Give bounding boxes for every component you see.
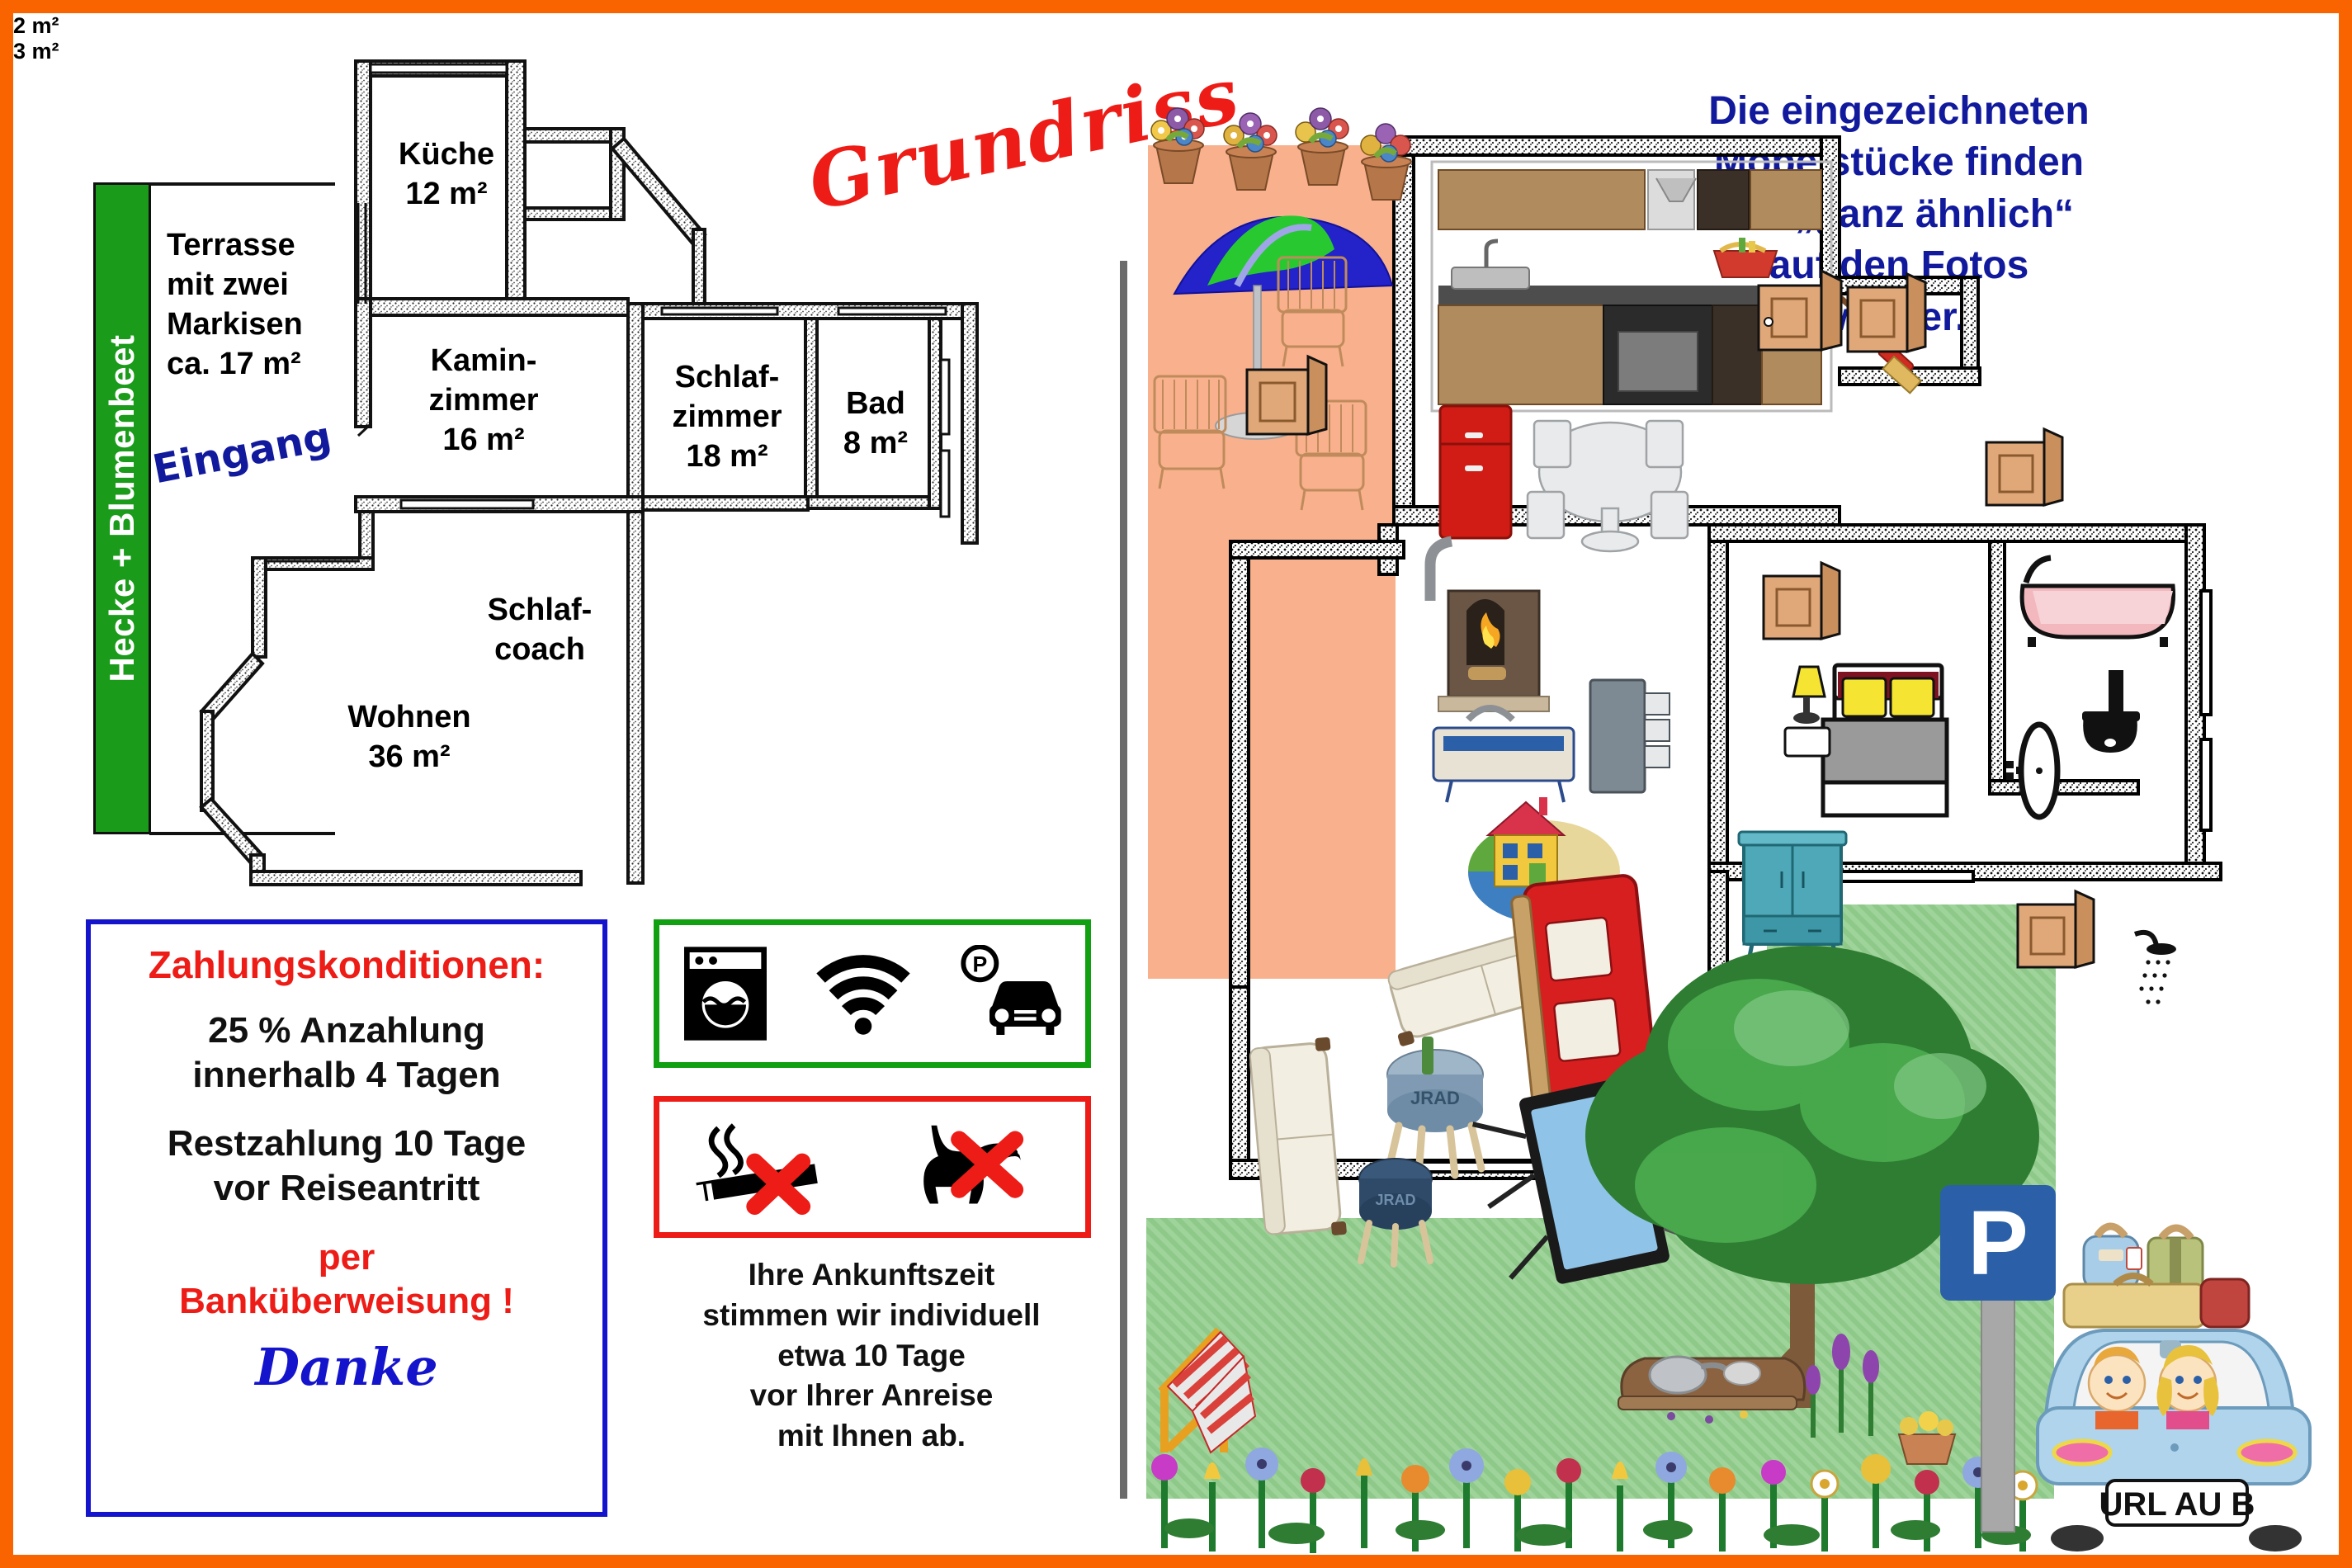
payment-conditions-box: Zahlungskonditionen: 25 % Anzahlung inne… (86, 919, 607, 1517)
thanks-label: Danke (255, 1337, 437, 1397)
side-table-icon: JRAD (1387, 1037, 1483, 1175)
arrival-line-4: vor Ihrer Anreise (624, 1376, 1119, 1416)
room-area-schlafzimmer: 18 m² (645, 437, 810, 477)
payment-line-3: Restzahlung 10 Tage (168, 1122, 526, 1166)
arrival-note: Ihre Ankunftszeit stimmen wir individuel… (624, 1255, 1119, 1457)
arrival-line-5: mit Ihnen ab. (624, 1416, 1119, 1457)
room-label-schlafcoach: Schlaf- coach (465, 591, 614, 670)
room-name-bad: Bad (818, 385, 933, 424)
room-name-kaminzimmer-2: zimmer (389, 381, 579, 421)
amenities-forbidden-box (654, 1096, 1091, 1238)
door-icon-1 (1759, 271, 1841, 350)
room-name-schlafzimmer-2: zimmer (645, 398, 810, 437)
shower-icon (2135, 933, 2176, 1004)
room-name-schlafzimmer-1: Schlaf- (645, 358, 810, 398)
toy-house-icon (1488, 797, 1564, 886)
floorplan-panel: Hecke + Blumenbeet Terrasse mit zwei Mar… (13, 13, 1111, 1555)
bench-icon (1433, 728, 1574, 802)
fireplace-stove (1430, 541, 1549, 748)
room-label-wohnen: Wohnen 36 m² (319, 698, 500, 777)
parking-sign-icon: P (1940, 1185, 2056, 1532)
stool-label: JRAD (1375, 1192, 1415, 1208)
tree-icon (1585, 946, 2039, 1408)
no-dogs-icon (900, 1120, 1057, 1215)
sideboard-icon (1590, 680, 1670, 792)
payment-line-2: innerhalb 4 Tagen (192, 1053, 500, 1098)
room-label-bad: Bad 8 m² (818, 385, 933, 464)
room-label-schlafzimmer: Schlaf- zimmer 18 m² (645, 358, 810, 477)
room-name-schlafcoach-1: Schlaf- (465, 591, 614, 631)
room-name-kueche: Küche (376, 135, 517, 175)
payment-line-4: vor Reiseantritt (214, 1166, 480, 1211)
room-area-kueche: 12 m² (376, 175, 517, 215)
license-plate: URL AU B (2099, 1486, 2255, 1523)
mirror-icon (2006, 725, 2057, 817)
parking-sign-letter: P (1967, 1193, 2028, 1294)
flower-pots (1151, 108, 1411, 200)
payment-title: Zahlungskonditionen: (149, 942, 545, 987)
room-area-bad: 8 m² (818, 424, 933, 464)
svg-text:P: P (972, 952, 987, 976)
red-fridge (1440, 406, 1511, 538)
stool-icon: JRAD (1359, 1159, 1432, 1264)
flower-border (1151, 1448, 2037, 1553)
room-area-kaminzimmer: 16 m² (389, 421, 579, 460)
dining-table (1528, 421, 1688, 551)
arrival-line-3: etwa 10 Tage (624, 1336, 1119, 1377)
no-smoking-icon (687, 1120, 844, 1215)
wifi-icon (814, 952, 913, 1035)
nightstand-lamp-icon (1785, 667, 1830, 756)
payment-line-1: 25 % Anzahlung (208, 1008, 485, 1053)
room-label-kueche: Küche 12 m² (376, 135, 517, 215)
arrival-line-2: stimmen wir individuell (624, 1296, 1119, 1336)
parking-car-icon: P (956, 945, 1064, 1042)
illustration-drawing: JRAD JRAD (1131, 13, 2339, 1555)
bed-icon (1823, 665, 1947, 815)
wardrobe-icon (1739, 832, 1846, 961)
door-icon-4 (1986, 429, 2062, 505)
room-name-schlafcoach-2: coach (465, 631, 614, 670)
bathtub-icon (2022, 558, 2173, 647)
toilet-icon (2082, 670, 2140, 753)
room-label-kaminzimmer: Kamin- zimmer 16 m² (389, 342, 579, 460)
panel-divider (1120, 261, 1127, 1499)
page-border: Hecke + Blumenbeet Terrasse mit zwei Mar… (0, 0, 2352, 1568)
illustration-panel: Die eingezeichneten Möbelstücke finden S… (1131, 13, 2339, 1555)
payment-line-5: per (319, 1235, 375, 1280)
door-icon-6 (1764, 563, 1840, 639)
deckchair-icon (1161, 1330, 1255, 1452)
room-name-wohnen: Wohnen (319, 698, 500, 738)
flower-bed-icon (1806, 1334, 1955, 1464)
family-car-icon: URL AU B (2038, 1226, 2310, 1551)
room-area-wohnen: 36 m² (319, 738, 500, 777)
amenities-allowed-box: P (654, 919, 1091, 1068)
door-icon-5 (2018, 891, 2094, 967)
room-name-kaminzimmer-1: Kamin- (389, 342, 579, 381)
wheelbarrow-icon (1618, 1357, 1805, 1424)
side-table-label: JRAD (1410, 1088, 1460, 1108)
arrival-line-1: Ihre Ankunftszeit (624, 1255, 1119, 1296)
page-canvas: Hecke + Blumenbeet Terrasse mit zwei Mar… (13, 13, 2339, 1555)
payment-line-6: Banküberweisung ! (179, 1279, 514, 1324)
washing-machine-icon (681, 944, 770, 1043)
